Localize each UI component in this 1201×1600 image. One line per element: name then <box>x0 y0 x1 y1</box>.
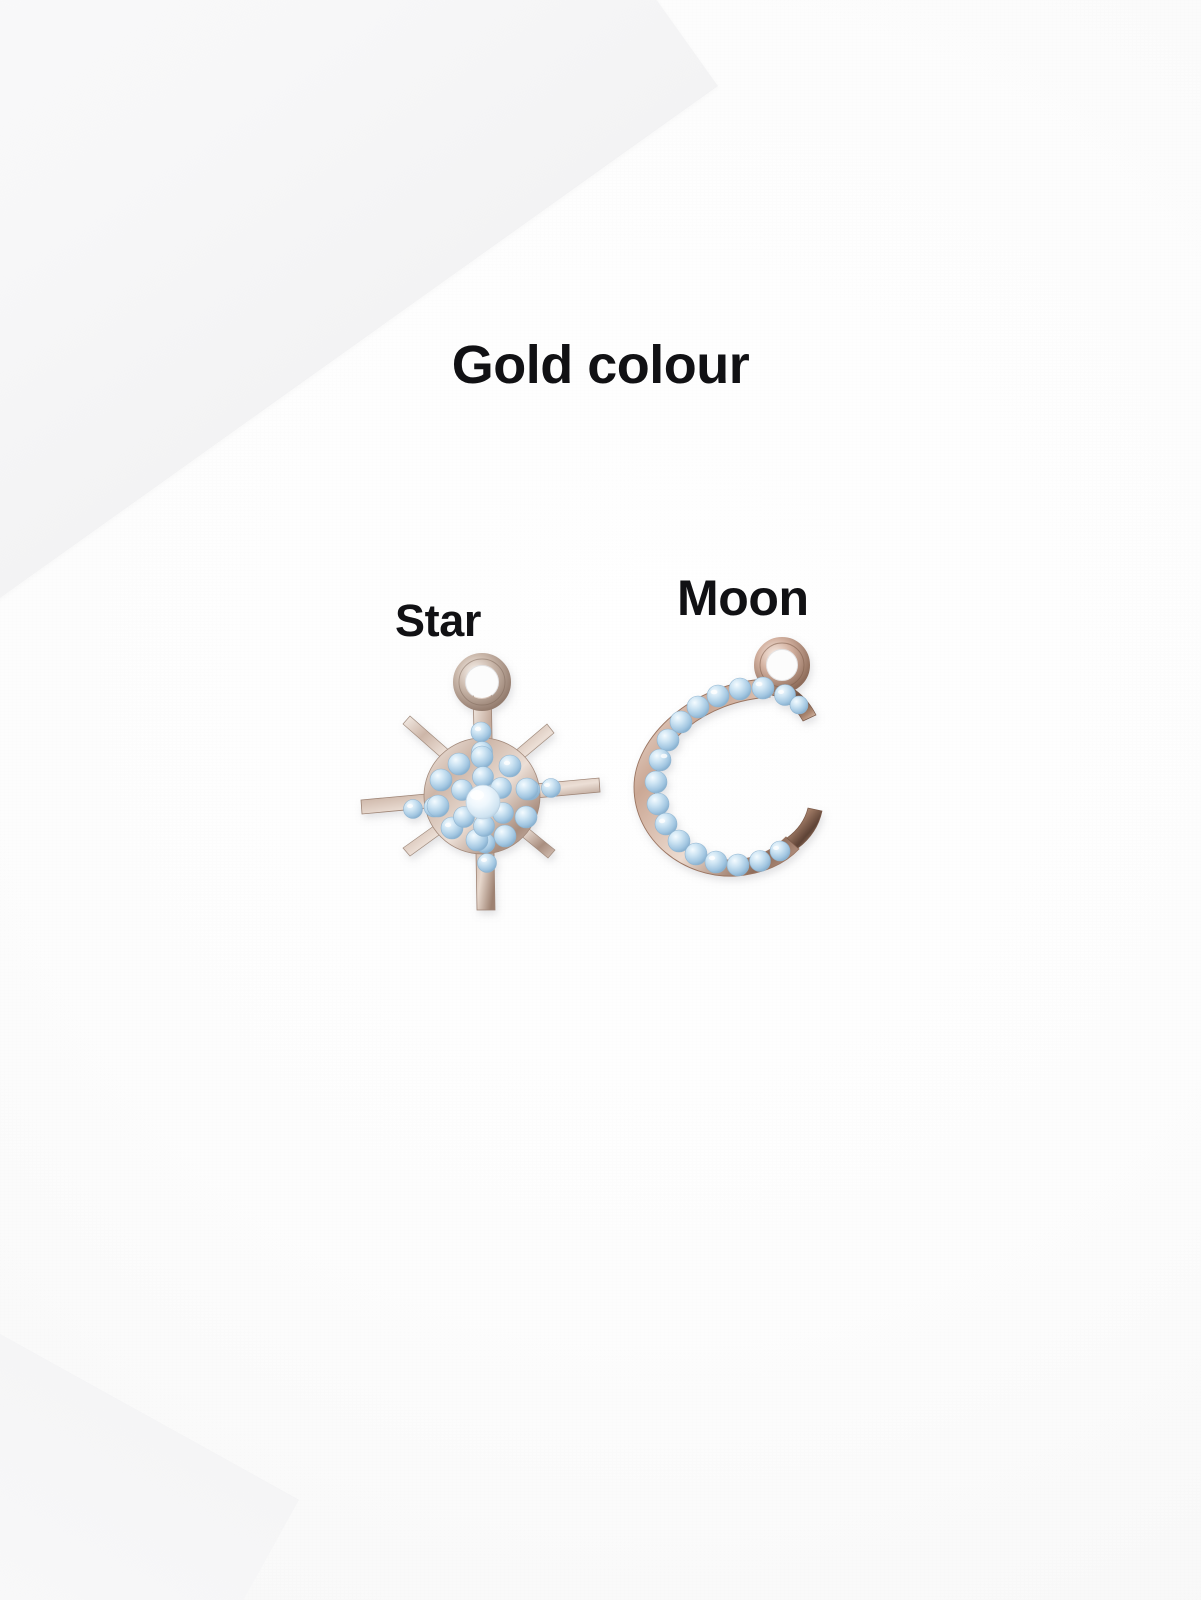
charm-label-star: Star <box>395 598 481 643</box>
star-jump-ring-hole <box>466 666 498 698</box>
star-center-stone <box>466 785 500 819</box>
product-image-canvas: Gold colour Star Moon <box>0 0 1201 1600</box>
moon-tip-lower <box>787 808 822 848</box>
moon-jump-ring-hole <box>767 650 797 680</box>
star-center-stone-highlight <box>470 790 484 800</box>
page-title: Gold colour <box>0 338 1201 392</box>
charm-image-star <box>355 640 605 930</box>
moon-pave-stones <box>645 677 808 876</box>
moon-charm-body <box>634 643 822 876</box>
charm-label-moon: Moon <box>677 573 809 623</box>
charm-image-moon <box>600 635 835 895</box>
star-charm-body <box>361 659 600 910</box>
